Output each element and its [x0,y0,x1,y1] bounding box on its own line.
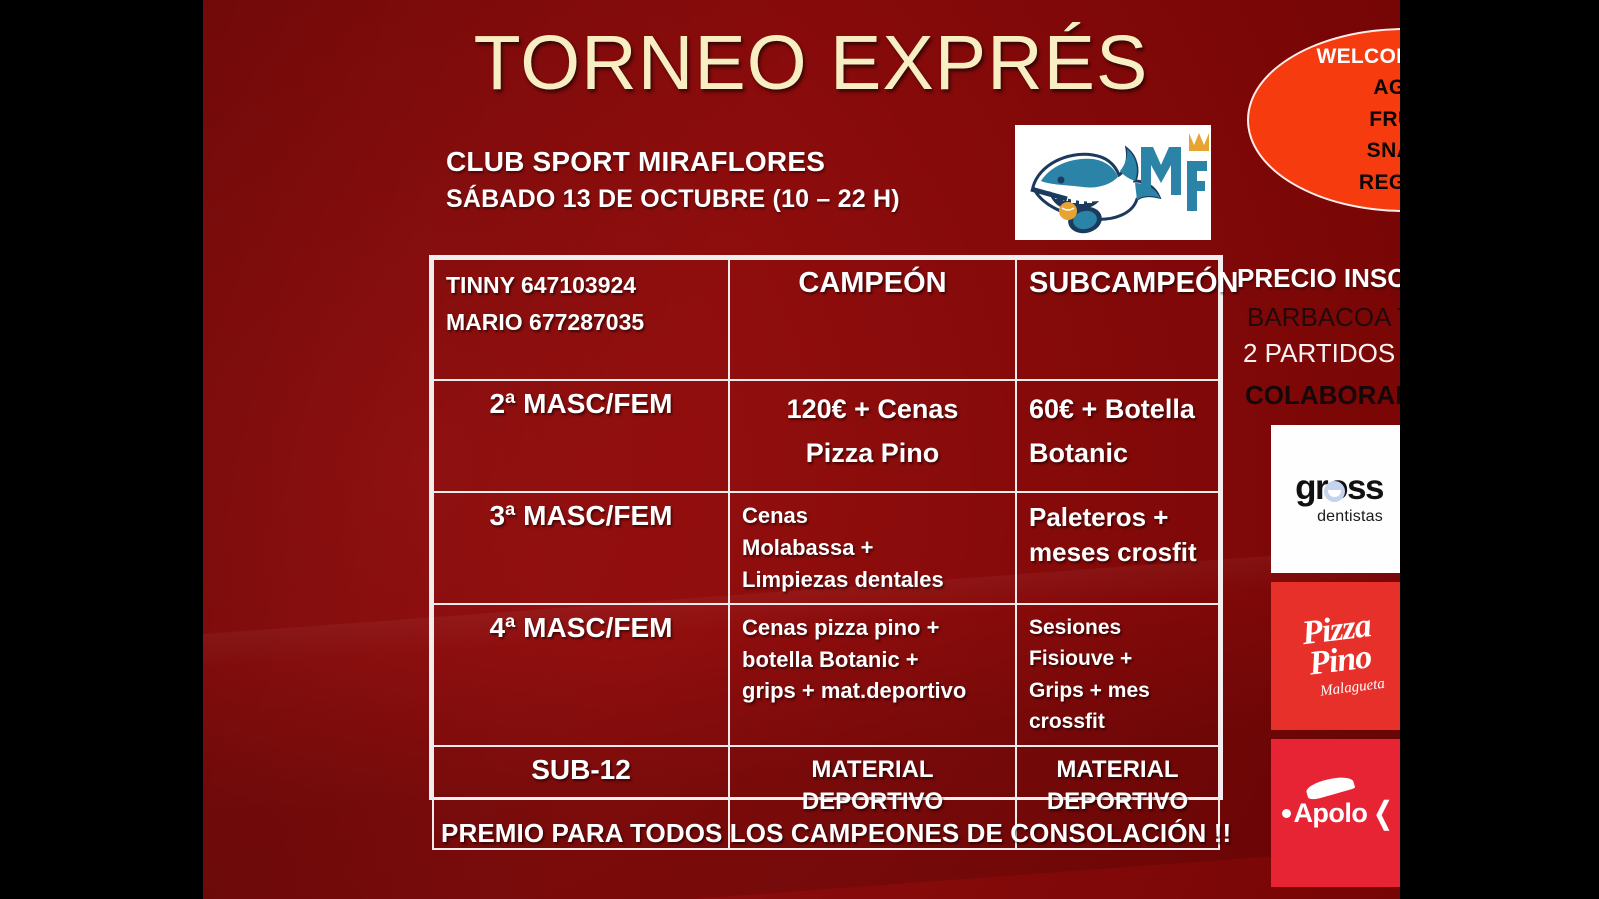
runnerup-prize-2a: 60€ + Botella Botanic [1016,380,1219,492]
prize-line: botella Botanic + [742,644,1003,676]
header-runnerup: SUBCAMPEÓN [1016,259,1219,380]
category-2a: 2ª MASC/FEM [433,380,729,492]
contacts-cell: TINNY 647103924 MARIO 677287035 [433,259,729,380]
poster-red-panel: TORNEO EXPRÉS CLUB SPORT MIRAFLORES SÁBA… [203,0,1400,899]
welcome-pack-item-snack: SNACK [1367,135,1400,167]
sponsor-logo-pizza-pino: Pizza Pino Malagueta [1271,582,1400,730]
contact-mario: MARIO 677287035 [446,304,716,341]
prize-line: MATERIAL [742,754,1003,786]
prize-table: TINNY 647103924 MARIO 677287035 CAMPEÓN … [429,255,1223,800]
table-row: 4ª MASC/FEM Cenas pizza pino + botella B… [433,604,1219,746]
prize-line: DEPORTIVO [1029,786,1206,818]
prize-line: DEPORTIVO [742,786,1003,818]
club-name: CLUB SPORT MIRAFLORES [446,143,1046,182]
table-row: TINNY 647103924 MARIO 677287035 CAMPEÓN … [433,259,1219,380]
sponsor-logo-apolo: Apolo ❬ [1271,739,1400,887]
header-champion: CAMPEÓN [729,259,1016,380]
collaborators-label: COLABORAN: [1245,380,1400,411]
barbecue-note: BARBACOA TODO EL DIA [1247,302,1400,333]
consolation-note: PREMIO PARA TODOS LOS CAMPEONES DE CONSO… [441,818,1231,849]
prize-line: grips + mat.deportivo [742,675,1003,707]
event-date: SÁBADO 13 DE OCTUBRE (10 – 22 H) [446,182,1046,217]
champion-prize-4a: Cenas pizza pino + botella Botanic + gri… [729,604,1016,746]
contact-tinny: TINNY 647103924 [446,267,716,304]
poster-root: TORNEO EXPRÉS CLUB SPORT MIRAFLORES SÁBA… [0,0,1599,899]
prize-line: 60€ + Botella [1029,388,1206,432]
sponsor-grid: gross dentistas ✿ MOLA BASSA Pizza Pi [1271,425,1400,875]
prize-line: meses crosfit [1029,535,1206,570]
prize-line: Limpiezas dentales [742,564,1003,596]
welcome-pack-item-regalo: REGALO [1359,167,1400,199]
sponsor-gross-sub: dentistas [1317,508,1383,526]
welcome-pack-badge: WELCOME PACK AGUA FRUTA SNACK REGALO [1247,28,1400,212]
fish-eye-icon [1282,809,1291,818]
table-row: 3ª MASC/FEM Cenas Molabassa + Limpiezas … [433,492,1219,604]
table-row: 2ª MASC/FEM 120€ + Cenas Pizza Pino 60€ … [433,380,1219,492]
prize-line: MATERIAL [1029,754,1206,786]
fish-fin-icon [1305,772,1356,801]
prize-line: Sesiones Fisiouve + [1029,612,1206,675]
page-title: TORNEO EXPRÉS [431,25,1191,102]
champion-prize-3a: Cenas Molabassa + Limpiezas dentales [729,492,1016,604]
sponsor-apolo-word: Apolo [1293,798,1367,829]
prize-line: 120€ + Cenas [742,388,1003,432]
champion-prize-2a: 120€ + Cenas Pizza Pino [729,380,1016,492]
welcome-pack-item-agua: AGUA [1373,72,1400,104]
event-subtitle: CLUB SPORT MIRAFLORES SÁBADO 13 DE OCTUB… [446,143,1046,216]
registration-price: PRECIO INSCRIPCIÓN 15€ [1237,263,1400,294]
prize-line: Paleteros + [1029,500,1206,535]
guaranteed-matches: 2 PARTIDOS GARANTIZADOS [1243,338,1400,369]
prize-line: Botanic [1029,432,1206,476]
welcome-pack-item-fruta: FRUTA [1369,104,1400,136]
prize-line: Molabassa + [742,532,1003,564]
club-shark-logo [1015,125,1211,240]
runnerup-prize-4a: Sesiones Fisiouve + Grips + mes crossfit [1016,604,1219,746]
prize-line: Cenas pizza pino + [742,612,1003,644]
prize-line: Pizza Pino [742,432,1003,476]
category-4a: 4ª MASC/FEM [433,604,729,746]
sponsor-logo-gross-dentistas: gross dentistas [1271,425,1400,573]
prize-line: Grips + mes crossfit [1029,675,1206,738]
prize-line: Cenas [742,500,1003,532]
fish-tail-icon: ❬ [1370,796,1395,831]
category-3a: 3ª MASC/FEM [433,492,729,604]
welcome-pack-title: WELCOME PACK [1316,42,1400,72]
runnerup-prize-3a: Paleteros + meses crosfit [1016,492,1219,604]
